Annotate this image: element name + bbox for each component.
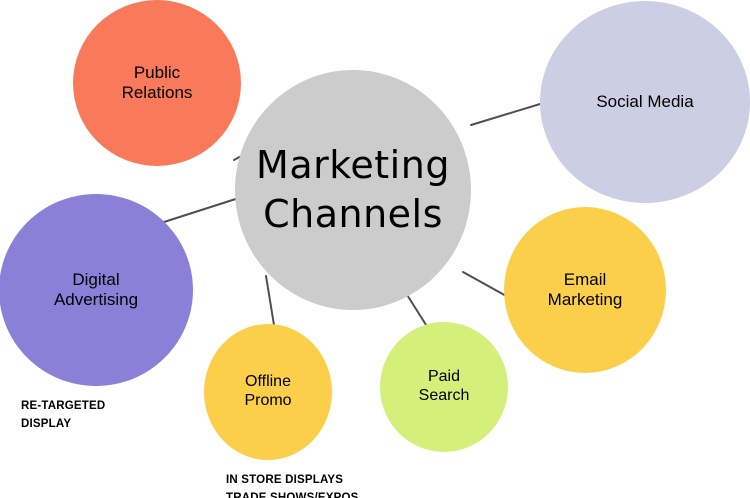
node-paid-search-label: Paid Search xyxy=(415,368,474,405)
node-offline-promo-label: Offline Promo xyxy=(240,373,295,410)
node-social-media-label: Social Media xyxy=(592,92,697,112)
caption-digital-advertising: RE-TARGETED DISPLAY xyxy=(21,398,105,434)
mind-map-canvas: Marketing ChannelsPublic RelationsSocial… xyxy=(0,0,750,498)
node-email-marketing-label: Email Marketing xyxy=(544,270,627,309)
node-digital-advertising[interactable]: Digital Advertising xyxy=(0,194,193,386)
node-offline-promo[interactable]: Offline Promo xyxy=(204,324,332,460)
caption-offline-promo: IN STORE DISPLAYS TRADE SHOWS/EXPOS xyxy=(226,472,358,498)
connector-line-hub-to-email-marketing xyxy=(463,272,508,297)
connector-line-hub-to-digital-advertising xyxy=(164,196,245,222)
node-social-media[interactable]: Social Media xyxy=(540,1,750,203)
node-public-relations[interactable]: Public Relations xyxy=(73,0,241,166)
connector-line-hub-to-offline-promo xyxy=(266,276,274,325)
connector-line-hub-to-social-media xyxy=(471,101,550,125)
node-marketing-channels-hub[interactable]: Marketing Channels xyxy=(235,70,471,310)
node-email-marketing[interactable]: Email Marketing xyxy=(504,207,666,373)
node-public-relations-label: Public Relations xyxy=(118,63,197,102)
node-marketing-channels-hub-label: Marketing Channels xyxy=(252,141,454,238)
node-paid-search[interactable]: Paid Search xyxy=(380,322,508,452)
node-digital-advertising-label: Digital Advertising xyxy=(50,270,142,309)
